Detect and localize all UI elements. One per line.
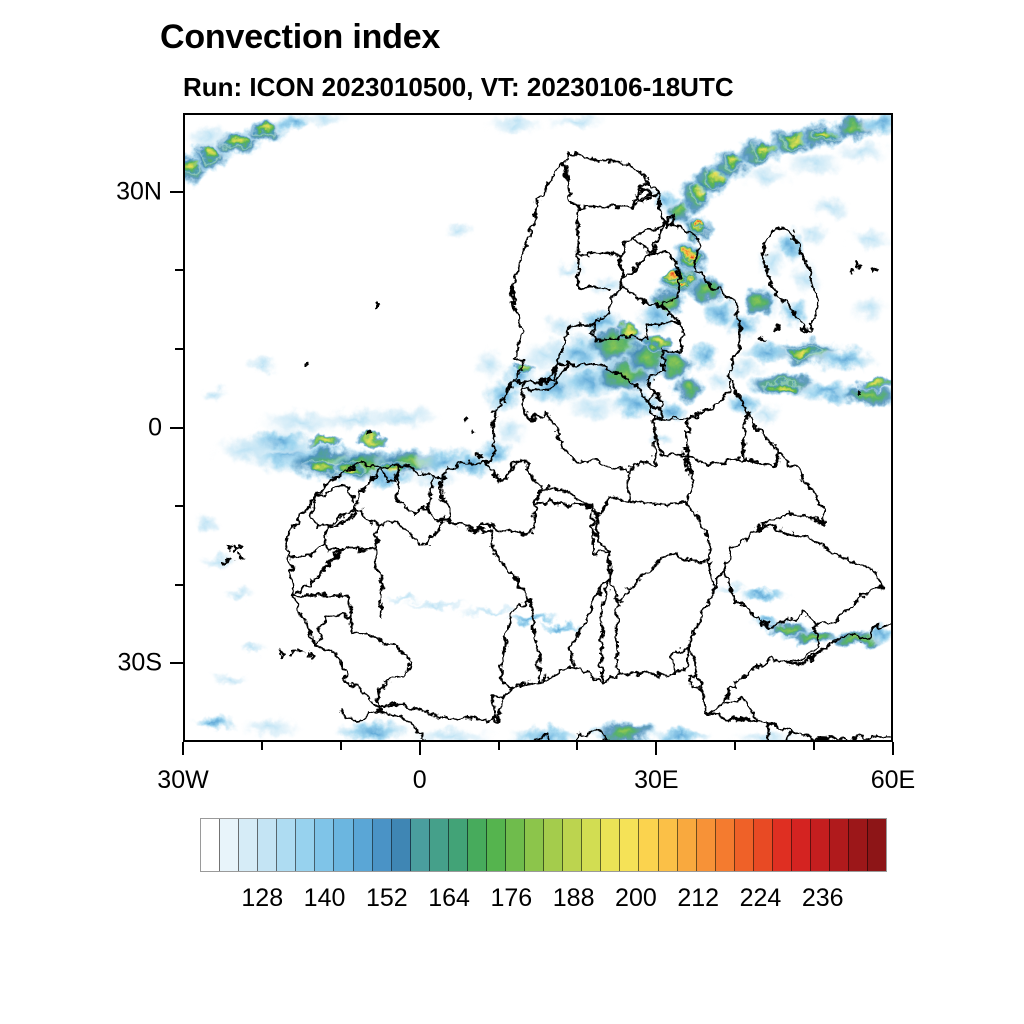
x-tickmark	[576, 742, 578, 750]
colorbar-swatch	[334, 819, 353, 871]
colorbar-swatch	[239, 819, 258, 871]
field-southern-frontal-band	[675, 113, 893, 214]
x-tick-label: 30E	[596, 766, 716, 795]
y-tickmark	[175, 505, 183, 507]
colorbar-swatch	[563, 819, 582, 871]
colorbar-swatch	[716, 819, 735, 871]
colorbar-swatch	[411, 819, 430, 871]
page-title: Convection index	[160, 18, 440, 57]
colorbar-swatch	[639, 819, 658, 871]
colorbar-swatch	[792, 819, 811, 871]
x-tickmark	[340, 742, 342, 750]
x-tickmark	[419, 742, 421, 755]
y-tickmark	[170, 662, 183, 664]
colorbar-swatch	[430, 819, 449, 871]
x-tickmark	[182, 742, 184, 755]
colorbar-swatch	[754, 819, 773, 871]
convection-field	[183, 113, 893, 742]
colorbar-tick-label: 236	[778, 884, 868, 913]
colorbar-swatch	[849, 819, 868, 871]
colorbar-swatch	[830, 819, 849, 871]
x-tickmark	[813, 742, 815, 750]
colorbar-swatch	[220, 819, 239, 871]
colorbar-swatch	[392, 819, 411, 871]
x-tickmark	[498, 742, 500, 750]
field-south-atlantic-front	[183, 113, 349, 185]
colorbar-swatch	[277, 819, 296, 871]
field-northwest-atlantic	[191, 511, 270, 686]
x-tick-label: 0	[360, 766, 480, 795]
colorbar-swatch	[678, 819, 697, 871]
colorbar-swatch	[735, 819, 754, 871]
y-tick-label: 0	[72, 413, 162, 442]
colorbar-swatch	[487, 819, 506, 871]
page-subtitle: Run: ICON 2023010500, VT: 20230106-18UTC	[183, 72, 734, 103]
colorbar-swatch	[601, 819, 620, 871]
colorbar[interactable]	[200, 818, 887, 872]
field-sahara-streak	[380, 595, 589, 632]
colorbar-swatch	[620, 819, 639, 871]
field-itcz-guinea	[211, 404, 499, 487]
colorbar-swatch	[373, 819, 392, 871]
colorbar-swatch	[296, 819, 315, 871]
colorbar-swatch	[258, 819, 277, 871]
y-tick-label: 30S	[72, 649, 162, 678]
x-tick-label: 30W	[123, 766, 243, 795]
colorbar-swatch	[354, 819, 373, 871]
colorbar-swatch	[868, 819, 886, 871]
y-tick-label: 30N	[72, 177, 162, 206]
x-tickmark	[734, 742, 736, 750]
map-canvas	[183, 113, 893, 742]
colorbar-swatch	[811, 819, 830, 871]
y-tickmark	[175, 584, 183, 586]
colorbar-swatch	[659, 819, 678, 871]
colorbar-swatch	[697, 819, 716, 871]
colorbar-swatch	[201, 819, 220, 871]
y-tickmark	[170, 191, 183, 193]
map-plot-area	[183, 113, 893, 742]
x-tickmark	[892, 742, 894, 755]
x-tickmark	[655, 742, 657, 755]
colorbar-swatch	[449, 819, 468, 871]
colorbar-swatch	[506, 819, 525, 871]
x-tickmark	[261, 742, 263, 750]
colorbar-swatch	[773, 819, 792, 871]
x-tick-label: 60E	[833, 766, 953, 795]
colorbar-swatch	[525, 819, 544, 871]
y-tickmark	[175, 269, 183, 271]
colorbar-swatch	[582, 819, 601, 871]
colorbar-swatch	[544, 819, 563, 871]
y-tickmark	[175, 348, 183, 350]
y-tickmark	[170, 427, 183, 429]
colorbar-swatch	[468, 819, 487, 871]
colorbar-swatch	[315, 819, 334, 871]
